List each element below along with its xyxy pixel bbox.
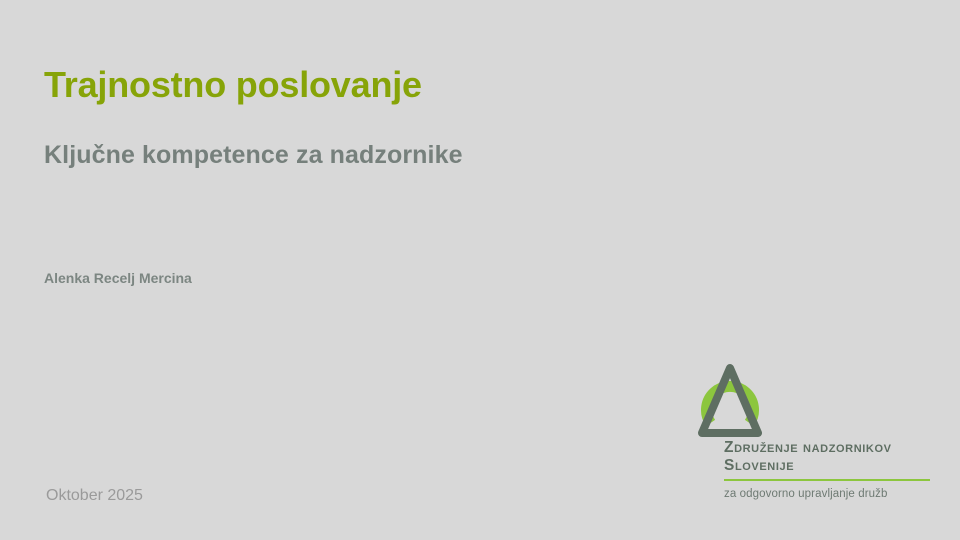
author-name: Alenka Recelj Mercina: [44, 268, 192, 288]
organization-logo: Združenje nadzornikov Slovenije za odgov…: [698, 345, 934, 517]
presentation-date: Oktober 2025: [46, 485, 143, 507]
logo-wordmark: Združenje nadzornikov Slovenije za odgov…: [724, 439, 934, 501]
slide-canvas: Trajnostno poslovanje Ključne kompetence…: [0, 0, 960, 540]
wordmark-line-1: Združenje nadzornikov: [724, 439, 934, 457]
page-subtitle: Ključne kompetence za nadzornike: [44, 139, 463, 171]
page-title: Trajnostno poslovanje: [44, 62, 422, 108]
logo-tagline: za odgovorno upravljanje družb: [724, 487, 934, 501]
wordmark-divider: [724, 479, 930, 481]
arc-over-triangle-icon: [698, 349, 762, 437]
wordmark-line-2: Slovenije: [724, 457, 934, 475]
